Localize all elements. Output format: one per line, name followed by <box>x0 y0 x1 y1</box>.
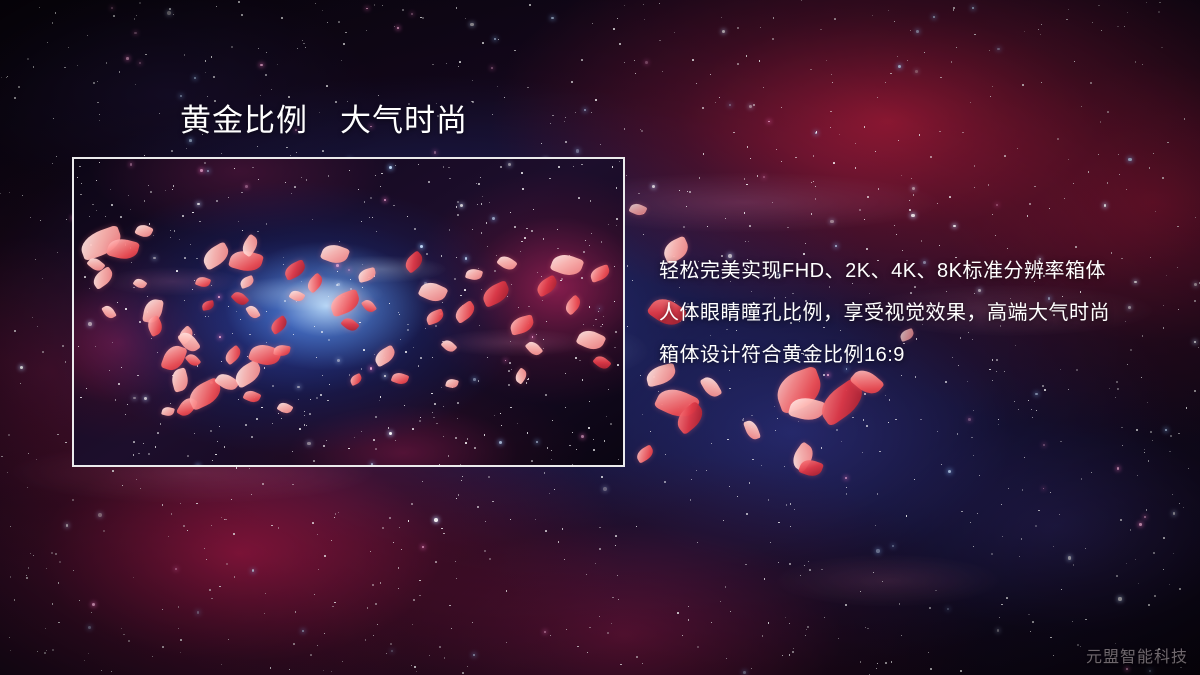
framed-picture <box>72 157 625 467</box>
petal <box>634 444 656 463</box>
body-line-2: 人体眼睛瞳孔比例，享受视觉效果，高端大气时尚 <box>659 292 1159 334</box>
petal <box>672 401 708 436</box>
slide-canvas: 黄金比例 大气时尚 轻松完美实现FHD、2K、4K、8K标准分辨率箱体 人体眼睛… <box>0 0 1200 675</box>
watermark: 元盟智能科技 <box>1086 643 1188 667</box>
petal <box>699 374 722 400</box>
body-copy: 轻松完美实现FHD、2K、4K、8K标准分辨率箱体 人体眼睛瞳孔比例，享受视觉效… <box>659 250 1159 376</box>
petal <box>653 383 700 423</box>
petal <box>798 457 824 480</box>
petal <box>628 201 647 218</box>
picture-nebula-wisp <box>74 159 623 465</box>
body-line-1: 轻松完美实现FHD、2K、4K、8K标准分辨率箱体 <box>659 250 1159 292</box>
petal <box>788 441 818 473</box>
petal <box>743 419 761 442</box>
body-line-3: 箱体设计符合黄金比例16:9 <box>659 334 1159 376</box>
page-title: 黄金比例 大气时尚 <box>180 101 468 141</box>
petal <box>788 394 827 424</box>
petal <box>814 377 869 427</box>
